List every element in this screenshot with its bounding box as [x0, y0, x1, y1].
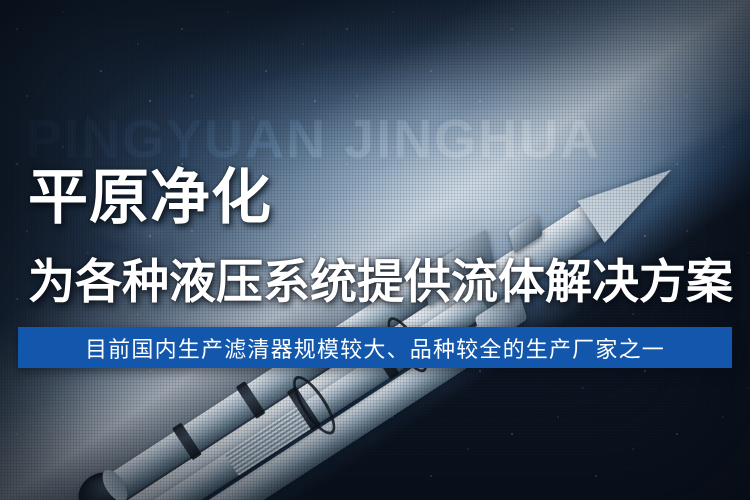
watermark-pinyin: PINGYUAN JINGHUA: [26, 108, 601, 170]
vignette-overlay: [0, 0, 750, 500]
page-subtitle: 为各种液压系统提供流体解决方案: [28, 258, 733, 305]
page-title: 平原净化: [28, 168, 272, 228]
tagline-bar: 目前国内生产滤清器规模较大、品种较全的生产厂家之一: [18, 327, 732, 368]
hero-banner: PINGYUAN JINGHUA 平原净化 为各种液压系统提供流体解决方案 目前…: [0, 0, 750, 500]
tagline-text: 目前国内生产滤清器规模较大、品种较全的生产厂家之一: [18, 327, 732, 368]
